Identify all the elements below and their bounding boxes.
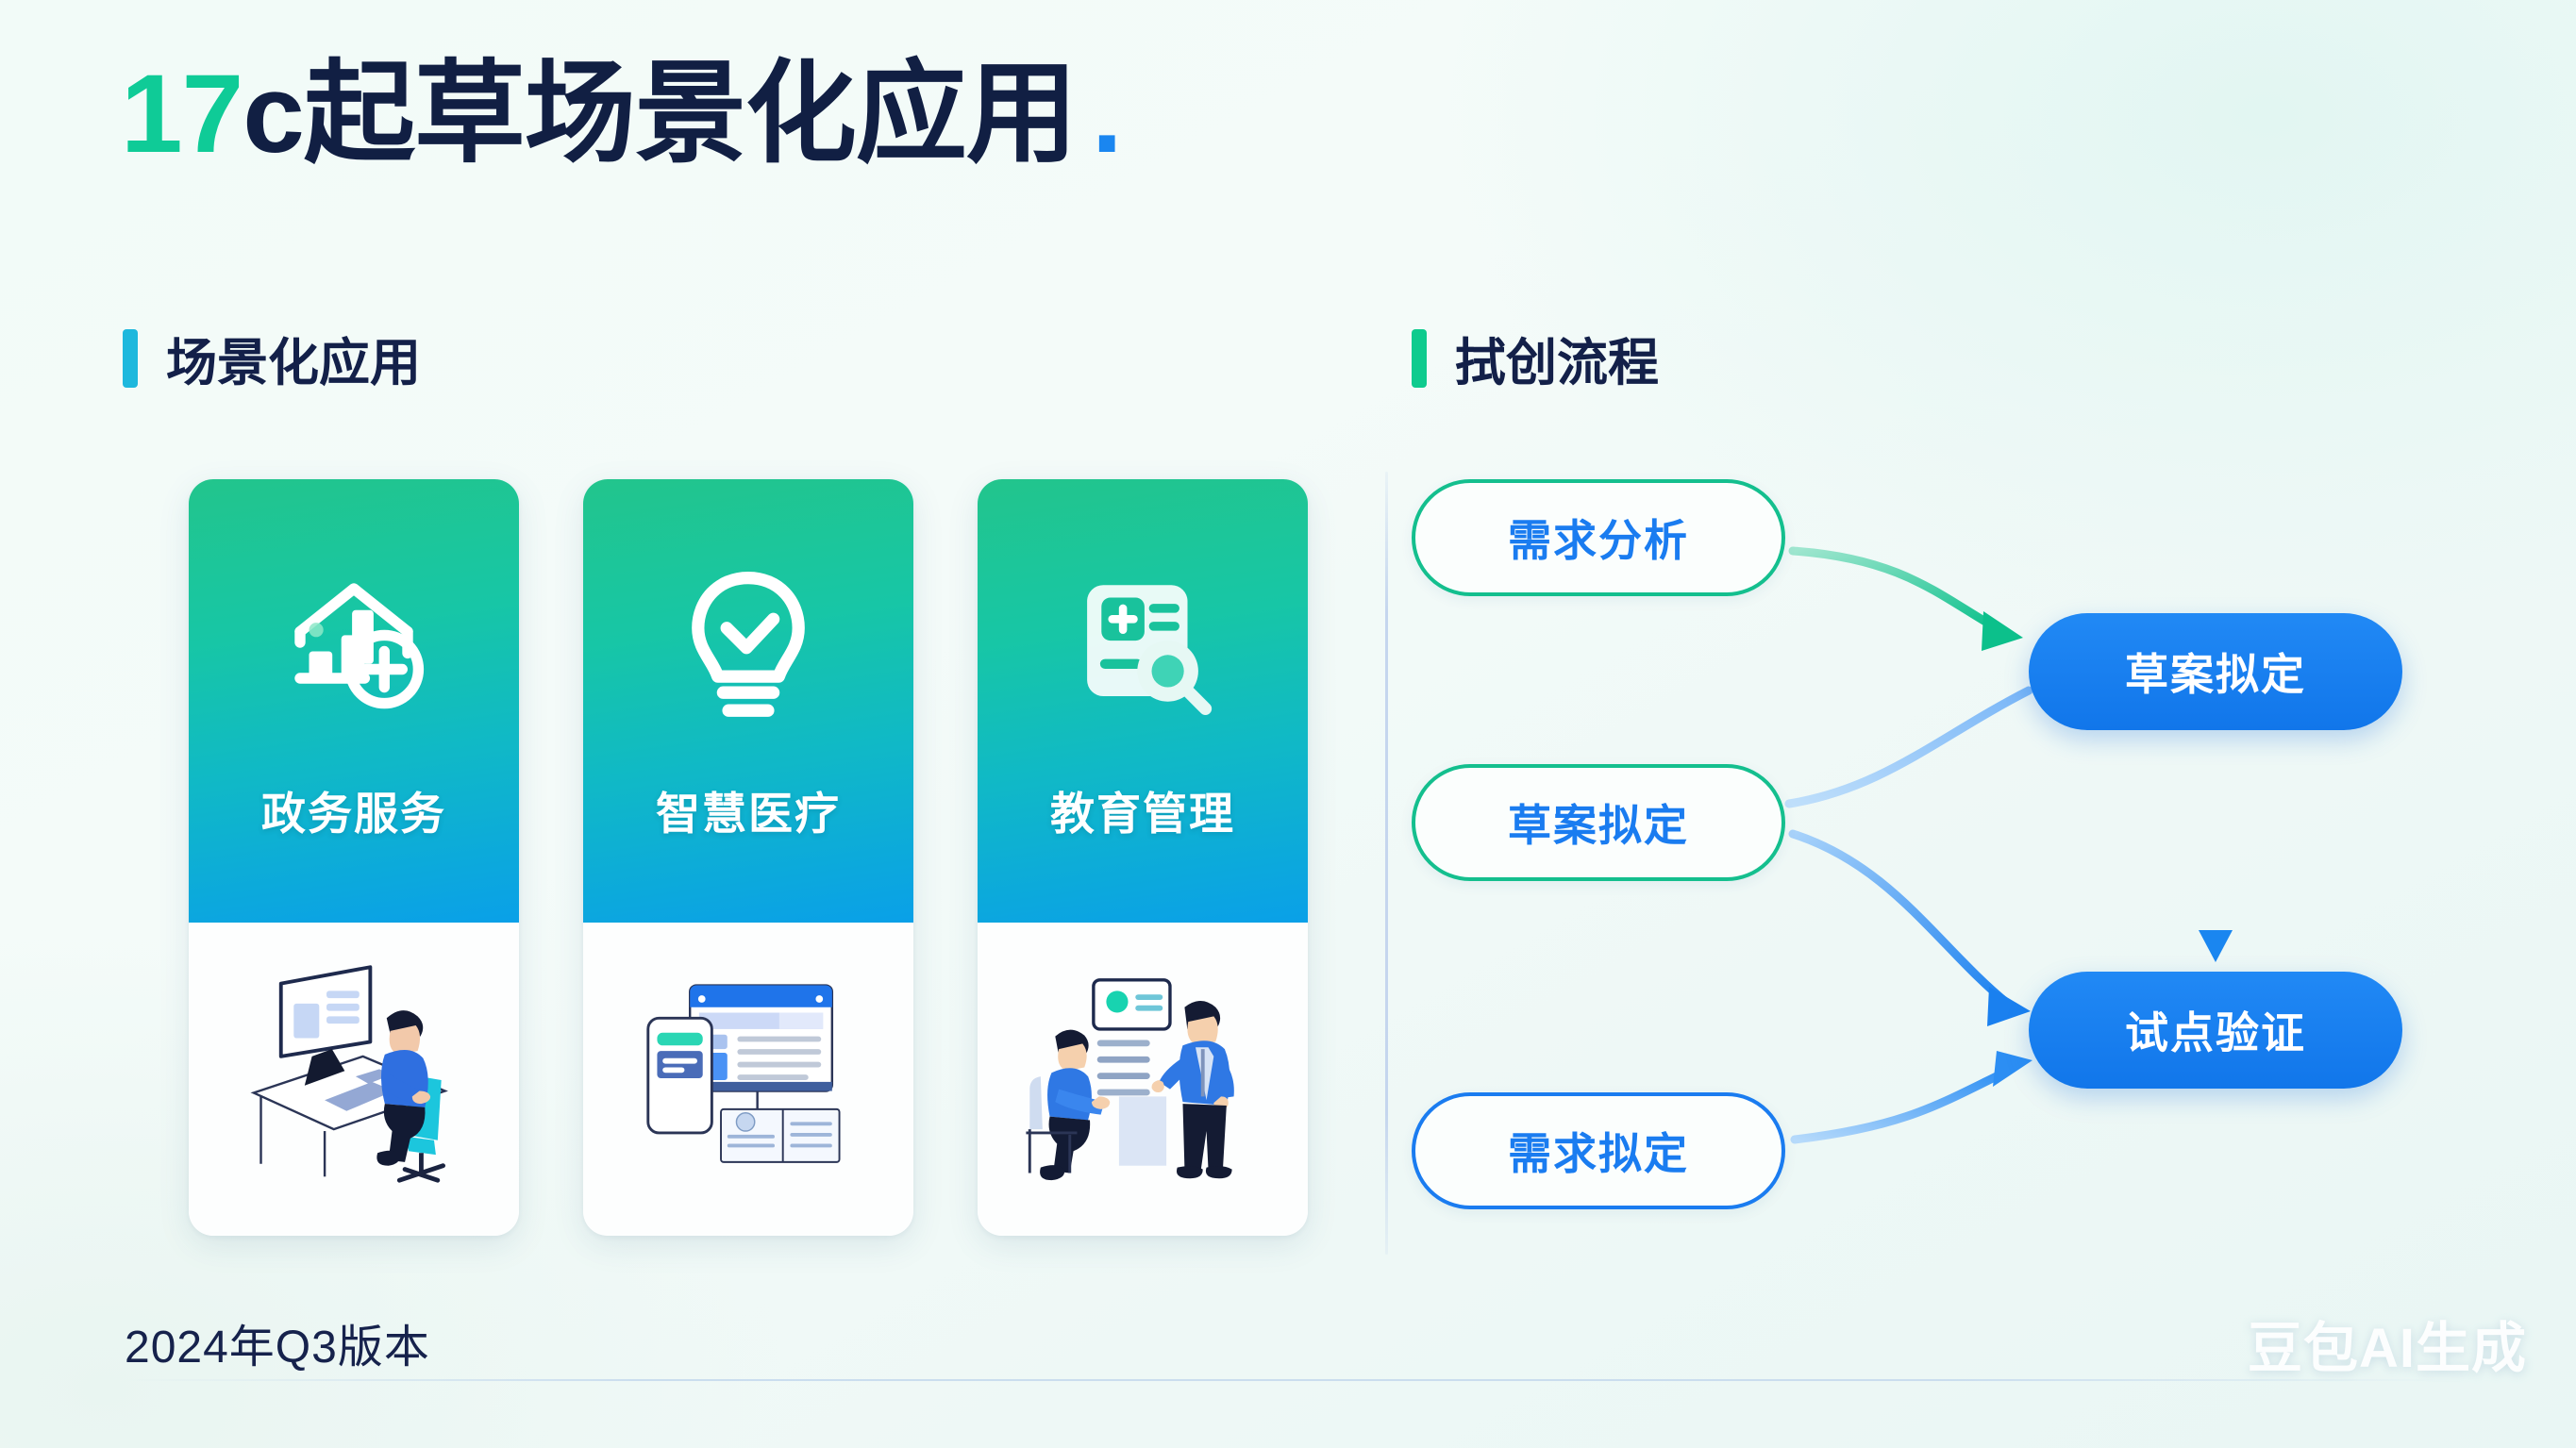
process-flow-diagram: 需求分析 草案拟定 需求拟定 草案拟定 试点验证 bbox=[1412, 453, 2468, 1264]
section-accent-bar bbox=[123, 329, 138, 388]
section-accent-bar bbox=[1412, 329, 1427, 388]
flow-node-pilot[interactable]: 试点验证 bbox=[2029, 972, 2402, 1089]
page-title: 17c起草场景化应用. bbox=[121, 58, 1122, 170]
card-header: 智慧医疗 bbox=[583, 479, 913, 923]
flow-node-draft-right[interactable]: 草案拟定 bbox=[2029, 613, 2402, 730]
flow-node-req-draft[interactable]: 需求拟定 bbox=[1412, 1092, 1785, 1209]
flow-node-label: 草案拟定 bbox=[2125, 641, 2306, 703]
lightbulb-check-icon bbox=[659, 553, 838, 732]
title-accent-dot: . bbox=[1092, 58, 1122, 170]
scenario-card-government[interactable]: 政务服务 bbox=[189, 479, 519, 1236]
section-heading-process: 拭创流程 bbox=[1412, 321, 1659, 395]
ai-watermark: 豆包AI生成 bbox=[2248, 1304, 2527, 1383]
card-illustration-area bbox=[978, 923, 1308, 1236]
slide-root: 17c起草场景化应用. 场景化应用 拭创流程 bbox=[0, 0, 2576, 1448]
flow-node-label: 草案拟定 bbox=[1508, 791, 1689, 854]
card-header: 教育管理 bbox=[978, 479, 1308, 923]
section-heading-scenarios: 场景化应用 bbox=[123, 321, 421, 395]
card-label: 教育管理 bbox=[1050, 777, 1235, 842]
document-calculator-search-icon bbox=[1053, 553, 1232, 732]
section-heading-label: 拭创流程 bbox=[1455, 321, 1659, 395]
flow-node-label: 需求拟定 bbox=[1508, 1120, 1689, 1182]
phone-browser-card-illustration bbox=[611, 947, 885, 1211]
flow-node-draft-left[interactable]: 草案拟定 bbox=[1412, 764, 1785, 881]
flow-node-req-analysis[interactable]: 需求分析 bbox=[1412, 479, 1785, 596]
version-label: 2024年Q3版本 bbox=[125, 1309, 430, 1375]
footer-divider bbox=[125, 1379, 2451, 1381]
scenario-card-list: 政务服务 bbox=[189, 479, 1308, 1236]
title-main: c起草场景化应用 bbox=[243, 58, 1077, 170]
flow-node-label: 试点验证 bbox=[2125, 999, 2306, 1061]
card-label: 智慧医疗 bbox=[656, 777, 841, 842]
section-heading-label: 场景化应用 bbox=[166, 321, 421, 395]
flow-node-label: 需求分析 bbox=[1508, 507, 1689, 569]
scenario-card-education[interactable]: 教育管理 bbox=[978, 479, 1308, 1236]
scenario-card-healthcare[interactable]: 智慧医疗 bbox=[583, 479, 913, 1236]
house-barchart-plus-icon bbox=[264, 553, 443, 732]
card-header: 政务服务 bbox=[189, 479, 519, 923]
card-illustration-area bbox=[189, 923, 519, 1236]
column-divider bbox=[1385, 472, 1388, 1255]
title-number: 17 bbox=[121, 58, 243, 170]
card-label: 政务服务 bbox=[261, 777, 446, 842]
card-illustration-area bbox=[583, 923, 913, 1236]
two-people-at-counter-illustration bbox=[1006, 947, 1280, 1211]
person-at-desk-with-monitor-illustration bbox=[217, 947, 491, 1211]
